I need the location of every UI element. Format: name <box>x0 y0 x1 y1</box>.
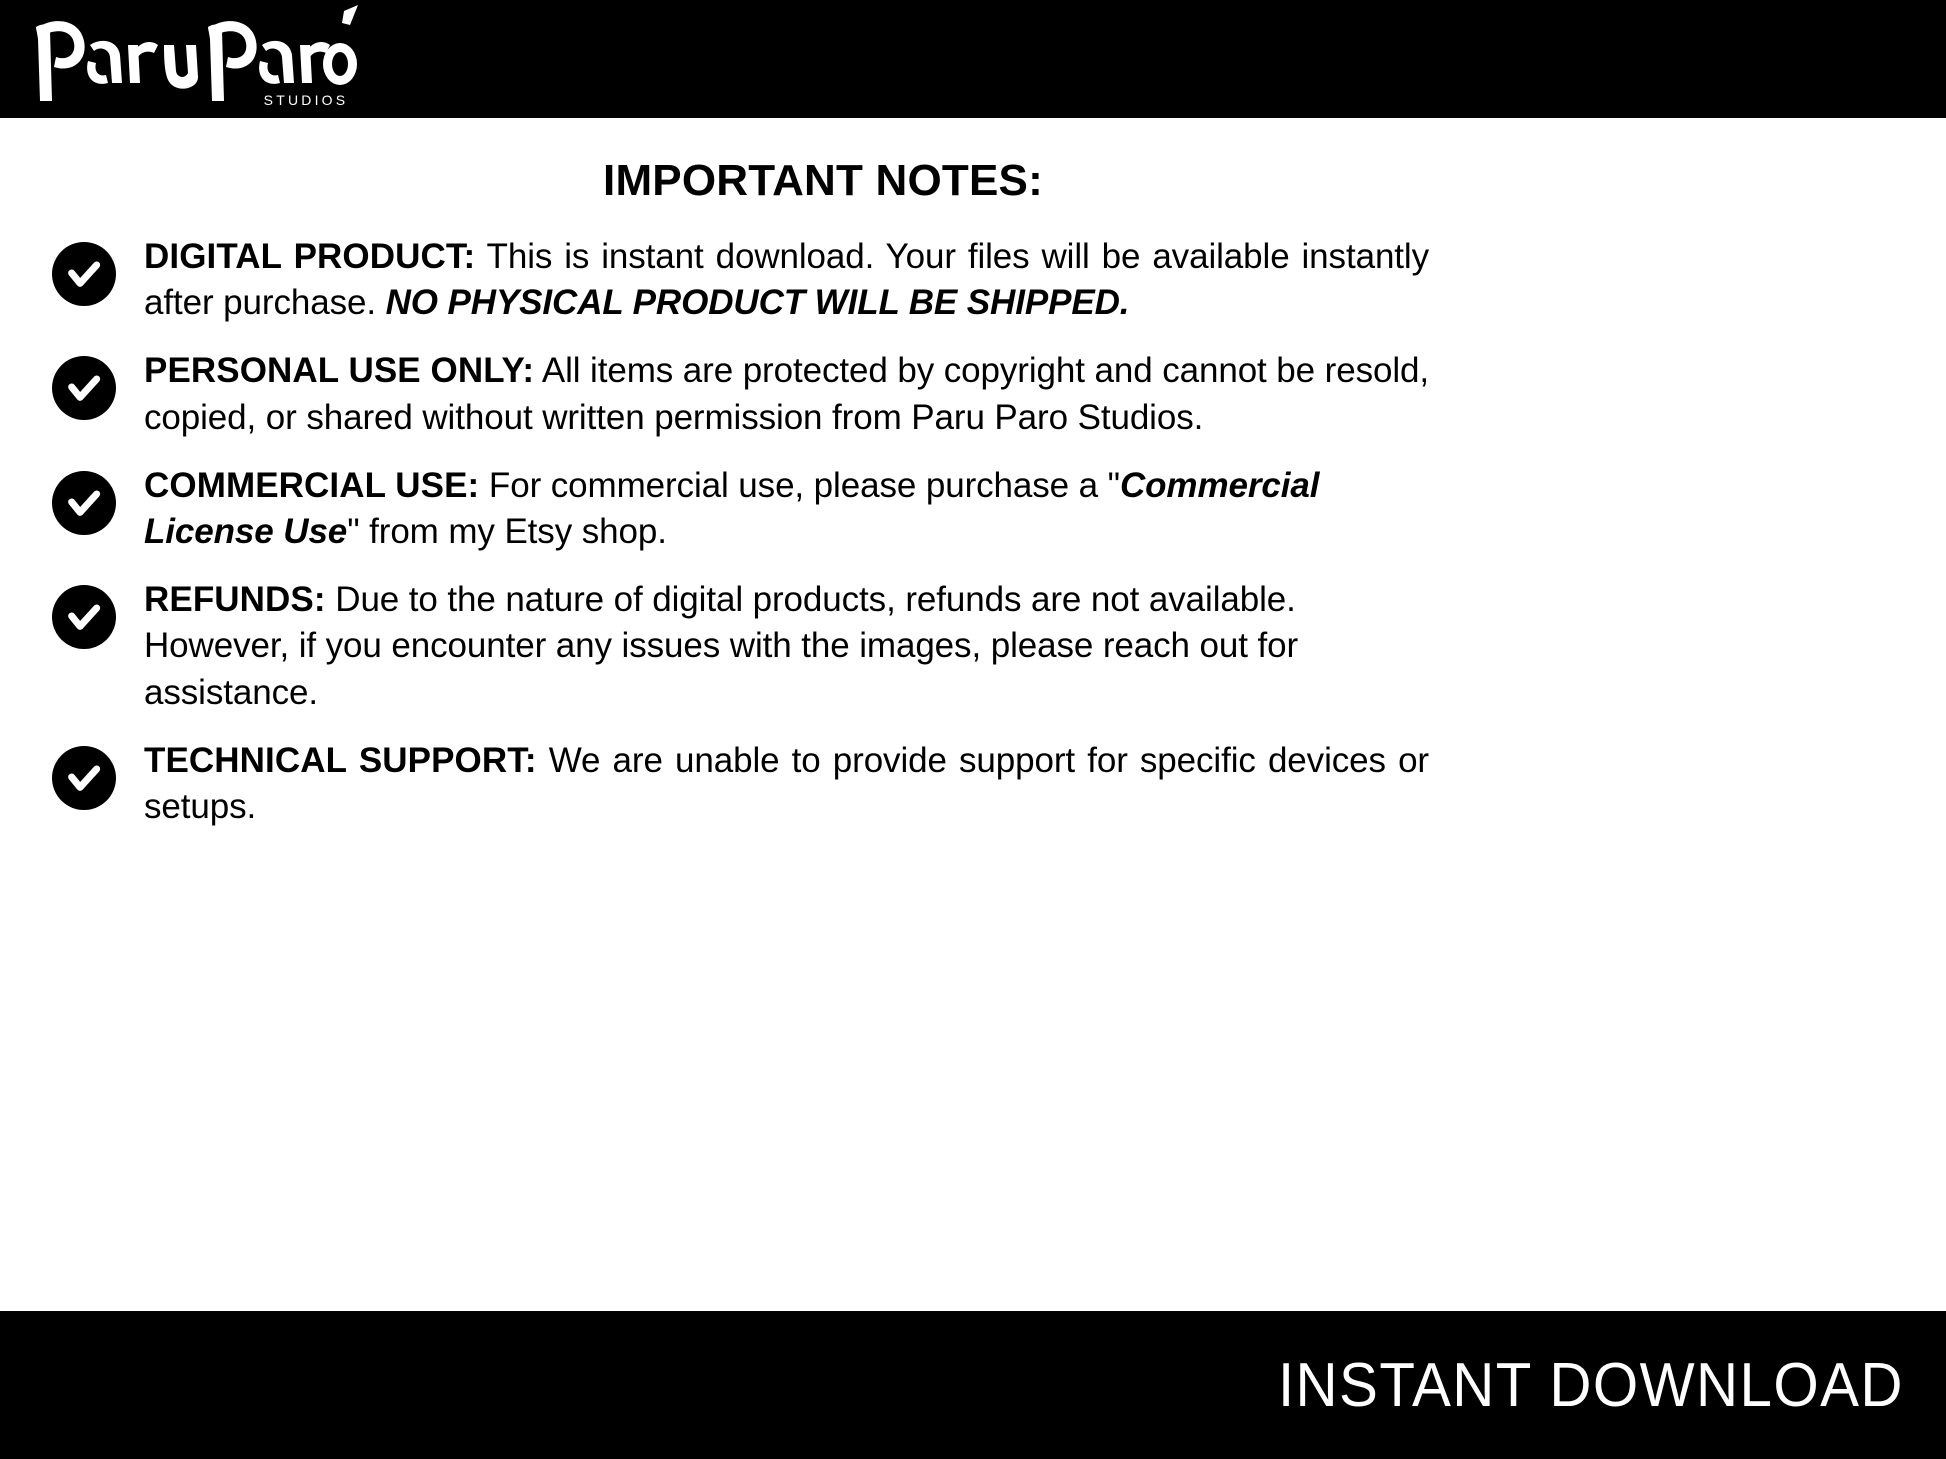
note-emphasis: NO PHYSICAL PRODUCT WILL BE SHIPPED. <box>386 283 1130 322</box>
list-item: DIGITAL PRODUCT: This is instant downloa… <box>52 234 1796 326</box>
check-circle-icon <box>52 585 116 649</box>
check-circle-icon <box>52 471 116 535</box>
note-body-after: " from my Etsy shop. <box>347 512 667 551</box>
notes-list: DIGITAL PRODUCT: This is instant downloa… <box>0 234 1796 830</box>
list-item: COMMERCIAL USE: For commercial use, plea… <box>52 463 1796 555</box>
header-bar: STUDIOS <box>0 0 1946 118</box>
note-text: REFUNDS: Due to the nature of digital pr… <box>144 577 1429 716</box>
note-label: REFUNDS: <box>144 580 326 619</box>
note-label: PERSONAL USE ONLY: <box>144 351 534 390</box>
note-text: PERSONAL USE ONLY: All items are protect… <box>144 348 1429 440</box>
note-label: TECHNICAL SUPPORT: <box>144 741 537 780</box>
list-item: PERSONAL USE ONLY: All items are protect… <box>52 348 1796 440</box>
notes-panel: IMPORTANT NOTES: DIGITAL PRODUCT: This i… <box>0 118 1946 1311</box>
svg-text:STUDIOS: STUDIOS <box>264 92 349 108</box>
note-text: DIGITAL PRODUCT: This is instant downloa… <box>144 234 1429 326</box>
note-text: TECHNICAL SUPPORT: We are unable to prov… <box>144 738 1429 830</box>
note-body: For commercial use, please purchase a " <box>479 466 1120 505</box>
check-circle-icon <box>52 242 116 306</box>
footer-bar: INSTANT DOWNLOAD <box>0 1311 1946 1459</box>
page-root: STUDIOS IMPORTANT NOTES: DIGITAL PRODUCT… <box>0 0 1946 1459</box>
paru-paro-studios-logo: STUDIOS <box>28 5 358 113</box>
check-circle-icon <box>52 746 116 810</box>
list-item: REFUNDS: Due to the nature of digital pr… <box>52 577 1796 716</box>
note-label: DIGITAL PRODUCT: <box>144 237 475 276</box>
note-label: COMMERCIAL USE: <box>144 466 479 505</box>
check-circle-icon <box>52 356 116 420</box>
page-title: IMPORTANT NOTES: <box>0 118 1796 206</box>
instant-download-label: INSTANT DOWNLOAD <box>1278 1350 1904 1421</box>
list-item: TECHNICAL SUPPORT: We are unable to prov… <box>52 738 1796 830</box>
note-text: COMMERCIAL USE: For commercial use, plea… <box>144 463 1429 555</box>
